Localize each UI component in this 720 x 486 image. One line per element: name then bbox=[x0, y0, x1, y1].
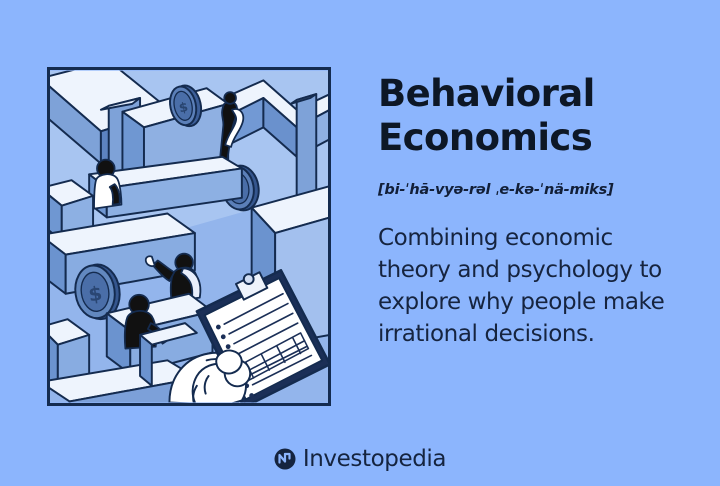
text-column: Behavioral Economics [bi-ˈhā-vyə-rəl ˌe-… bbox=[378, 72, 698, 350]
term-title: Behavioral Economics bbox=[378, 72, 698, 160]
hand-thumb bbox=[216, 351, 242, 374]
term-pronunciation: [bi-ˈhā-vyə-rəl ˌe-kə-ˈnä-miks] bbox=[378, 182, 698, 198]
brand-name: Investopedia bbox=[303, 448, 446, 470]
maze-illustration-svg: $ bbox=[50, 70, 328, 403]
definition-card: $ bbox=[0, 0, 720, 486]
term-definition: Combining economic theory and psychology… bbox=[378, 222, 698, 350]
brand-footer: Investopedia bbox=[0, 448, 720, 470]
maze-illustration: $ bbox=[47, 67, 331, 406]
investopedia-logo-icon bbox=[274, 448, 296, 470]
